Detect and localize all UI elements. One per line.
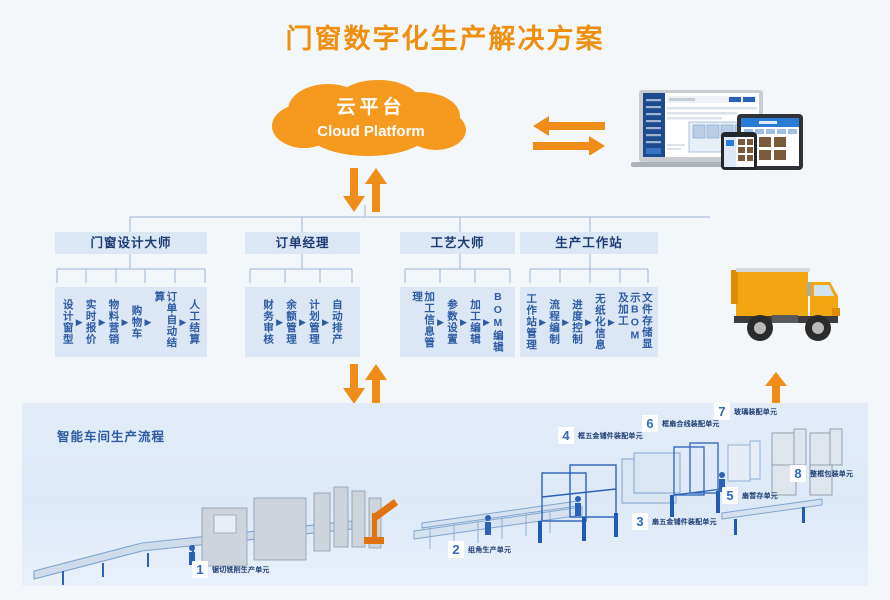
flow-arrow-icon: ▶: [144, 317, 151, 328]
callout-label: 框五金铺件装配单元: [578, 431, 643, 441]
flow-arrow-icon: ▶: [76, 317, 83, 328]
module-item[interactable]: 流程编制: [548, 299, 560, 345]
flow-arrow-icon: ▶: [539, 317, 546, 328]
module-item[interactable]: 自动排产: [331, 299, 343, 345]
module-item[interactable]: 参数设置: [446, 299, 458, 345]
workshop-up-arrow-icon: [365, 364, 387, 404]
flow-arrow-icon: ▶: [483, 317, 490, 328]
workshop-unit-callout-7[interactable]: 7 玻璃装配单元: [714, 403, 777, 420]
laptop-sidebar: [643, 93, 665, 157]
workshop-unit-callout-4[interactable]: 4 框五金铺件装配单元: [558, 427, 643, 444]
module-item[interactable]: 进度控制: [571, 299, 583, 345]
cloud-platform-node[interactable]: 云平台 Cloud Platform: [268, 80, 474, 158]
cloud-icon: [268, 80, 474, 158]
module-item-list: 设计窗型 ▶ 实时报价 ▶ 物料营销 ▶ 购物车 ▶ 订单自动结算 ▶ 人工结算: [55, 287, 207, 357]
module-item[interactable]: 设计窗型: [62, 299, 74, 345]
flow-arrow-icon: ▶: [122, 317, 129, 328]
cloud-device-sync-arrows: [533, 113, 605, 155]
page-title: 门窗数字化生产解决方案: [0, 17, 890, 56]
module-item-list: 工作站管理 ▶ 流程编制 ▶ 进度控制 ▶ 无纸化信息 ▶ 文件存储显示BOM及…: [520, 287, 658, 357]
module-item[interactable]: 计划管理: [308, 299, 320, 345]
module-item[interactable]: 财务审核: [262, 299, 274, 345]
module-group-title: 门窗设计大师: [55, 232, 207, 254]
module-item[interactable]: 人工结算: [188, 299, 200, 345]
module-workshop-sync-arrows: [343, 364, 387, 408]
workshop-unit-callout-5[interactable]: 5 扇暂存单元: [722, 487, 778, 504]
solution-infographic: 门窗数字化生产解决方案 云平台 Cloud Platform: [0, 0, 890, 600]
module-group-title: 工艺大师: [400, 232, 515, 254]
module-item-list: 财务审核 ▶ 余额管理 ▶ 计划管理 ▶ 自动排产: [245, 287, 360, 357]
module-group-title: 生产工作站: [520, 232, 658, 254]
callout-label: 玻璃装配单元: [734, 407, 777, 417]
workshop-down-arrow-icon: [343, 364, 365, 404]
flow-arrow-icon: ▶: [179, 317, 186, 328]
module-item[interactable]: BOM编辑: [492, 291, 504, 353]
callout-number: 4: [558, 427, 574, 444]
module-item-list: 加工信息管理 ▶ 参数设置 ▶ 加工编辑 ▶ BOM编辑: [400, 287, 515, 357]
module-item[interactable]: 加工信息管理: [411, 291, 435, 353]
flow-arrow-icon: ▶: [585, 317, 592, 328]
device-left-arrow-icon: [533, 116, 605, 136]
flow-arrow-icon: ▶: [460, 317, 467, 328]
workshop-unit-callout-1[interactable]: 1 锯切铣削生产单元: [192, 561, 270, 578]
module-item[interactable]: 工作站管理: [525, 293, 537, 351]
module-item[interactable]: 无纸化信息: [594, 293, 606, 351]
workshop-panel: 智能车间生产流程: [22, 403, 868, 586]
flow-arrow-icon: ▶: [299, 317, 306, 328]
flow-arrow-icon: ▶: [562, 317, 569, 328]
flow-arrow-icon: ▶: [608, 317, 615, 328]
callout-number: 1: [192, 561, 208, 578]
module-item[interactable]: 文件存储显示BOM及加工: [617, 292, 653, 352]
multi-device-mockup: [625, 88, 875, 170]
module-item[interactable]: 实时报价: [85, 299, 97, 345]
callout-label: 整框包装单元: [810, 469, 853, 479]
callout-number: 6: [642, 415, 658, 432]
workshop-unit-callout-2[interactable]: 2 组角生产单元: [448, 541, 511, 558]
callout-number: 7: [714, 403, 730, 420]
workshop-unit-callout-6[interactable]: 6 框扇合线装配单元: [642, 415, 720, 432]
callout-label: 扇五金铺件装配单元: [652, 517, 717, 527]
callout-label: 框扇合线装配单元: [662, 419, 720, 429]
module-item[interactable]: 购物车: [130, 305, 142, 340]
flow-arrow-icon: ▶: [437, 317, 444, 328]
flow-arrow-icon: ▶: [322, 317, 329, 328]
callout-number: 2: [448, 541, 464, 558]
module-item[interactable]: 余额管理: [285, 299, 297, 345]
workshop-unit-callout-8[interactable]: 8 整框包装单元: [790, 465, 853, 482]
callout-label: 扇暂存单元: [742, 491, 778, 501]
flow-arrow-icon: ▶: [276, 317, 283, 328]
callout-number: 3: [632, 513, 648, 530]
module-item[interactable]: 物料营销: [108, 299, 120, 345]
callout-number: 5: [722, 487, 738, 504]
workshop-unit-callout-3[interactable]: 3 扇五金铺件装配单元: [632, 513, 717, 530]
device-right-arrow-icon: [533, 136, 605, 155]
flow-arrow-icon: ▶: [99, 317, 106, 328]
callout-label: 组角生产单元: [468, 545, 511, 555]
module-item[interactable]: 订单自动结算: [153, 291, 177, 353]
module-item[interactable]: 加工编辑: [469, 299, 481, 345]
callout-number: 8: [790, 465, 806, 482]
module-group-title: 订单经理: [245, 232, 360, 254]
callout-label: 锯切铣削生产单元: [212, 565, 270, 575]
